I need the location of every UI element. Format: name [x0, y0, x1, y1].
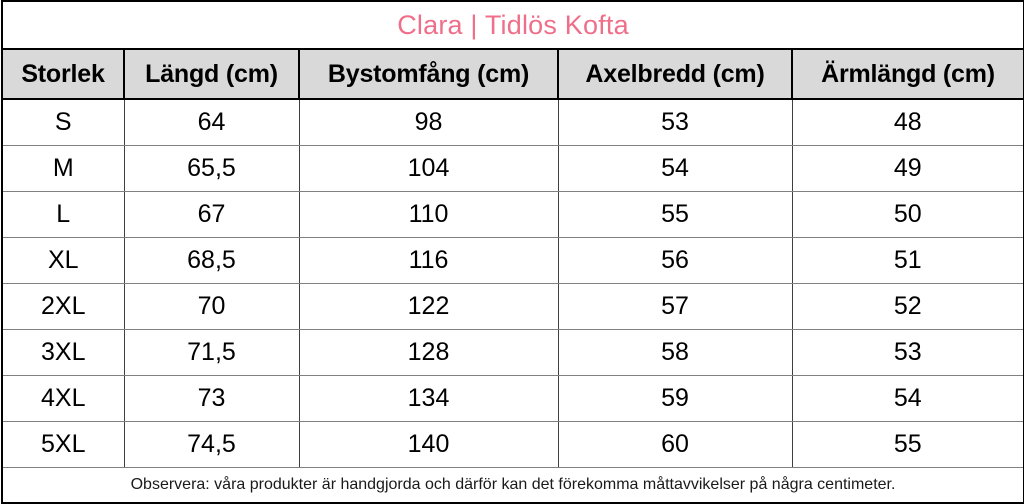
- cell-axelbredd: 55: [558, 192, 792, 238]
- column-header-bystomfang: Bystomfång (cm): [299, 49, 558, 99]
- cell-bystomfang: 134: [299, 376, 558, 422]
- cell-armlangd: 55: [792, 422, 1024, 468]
- cell-armlangd: 48: [792, 99, 1024, 146]
- cell-size: 5XL: [2, 422, 124, 468]
- cell-bystomfang: 116: [299, 238, 558, 284]
- cell-bystomfang: 122: [299, 284, 558, 330]
- table-row: 5XL 74,5 140 60 55: [2, 422, 1024, 468]
- cell-size: L: [2, 192, 124, 238]
- column-header-armlangd: Ärmlängd (cm): [792, 49, 1024, 99]
- page-title: Clara | Tidlös Kofta: [397, 10, 629, 40]
- cell-axelbredd: 54: [558, 146, 792, 192]
- cell-armlangd: 53: [792, 330, 1024, 376]
- cell-armlangd: 49: [792, 146, 1024, 192]
- size-chart: Clara | Tidlös Kofta Storlek Längd (cm) …: [0, 0, 1024, 498]
- cell-langd: 67: [124, 192, 299, 238]
- column-header-langd: Längd (cm): [124, 49, 299, 99]
- disclaimer-text: Observera: våra produkter är handgjorda …: [131, 476, 896, 493]
- table-row: 4XL 73 134 59 54: [2, 376, 1024, 422]
- cell-bystomfang: 140: [299, 422, 558, 468]
- cell-bystomfang: 110: [299, 192, 558, 238]
- cell-axelbredd: 53: [558, 99, 792, 146]
- cell-size: M: [2, 146, 124, 192]
- cell-size: S: [2, 99, 124, 146]
- table-row: M 65,5 104 54 49: [2, 146, 1024, 192]
- table-row: S 64 98 53 48: [2, 99, 1024, 146]
- cell-langd: 68,5: [124, 238, 299, 284]
- table-header-row: Storlek Längd (cm) Bystomfång (cm) Axelb…: [2, 49, 1024, 99]
- cell-axelbredd: 60: [558, 422, 792, 468]
- cell-axelbredd: 59: [558, 376, 792, 422]
- cell-langd: 64: [124, 99, 299, 146]
- table-row: 3XL 71,5 128 58 53: [2, 330, 1024, 376]
- column-header-storlek: Storlek: [2, 49, 124, 99]
- cell-axelbredd: 56: [558, 238, 792, 284]
- cell-axelbredd: 57: [558, 284, 792, 330]
- cell-axelbredd: 58: [558, 330, 792, 376]
- cell-armlangd: 50: [792, 192, 1024, 238]
- cell-armlangd: 54: [792, 376, 1024, 422]
- cell-langd: 74,5: [124, 422, 299, 468]
- cell-langd: 71,5: [124, 330, 299, 376]
- column-header-axelbredd: Axelbredd (cm): [558, 49, 792, 99]
- table-row: L 67 110 55 50: [2, 192, 1024, 238]
- cell-size: 2XL: [2, 284, 124, 330]
- cell-armlangd: 51: [792, 238, 1024, 284]
- cell-langd: 73: [124, 376, 299, 422]
- cell-bystomfang: 98: [299, 99, 558, 146]
- cell-size: 3XL: [2, 330, 124, 376]
- cell-armlangd: 52: [792, 284, 1024, 330]
- cell-langd: 70: [124, 284, 299, 330]
- cell-bystomfang: 104: [299, 146, 558, 192]
- cell-size: XL: [2, 238, 124, 284]
- cell-bystomfang: 128: [299, 330, 558, 376]
- chart-title-row: Clara | Tidlös Kofta: [2, 1, 1024, 49]
- cell-langd: 65,5: [124, 146, 299, 192]
- table-row: 2XL 70 122 57 52: [2, 284, 1024, 330]
- cell-size: 4XL: [2, 376, 124, 422]
- size-chart-table: Clara | Tidlös Kofta Storlek Längd (cm) …: [1, 0, 1024, 504]
- chart-title-cell: Clara | Tidlös Kofta: [2, 1, 1024, 49]
- table-row: XL 68,5 116 56 51: [2, 238, 1024, 284]
